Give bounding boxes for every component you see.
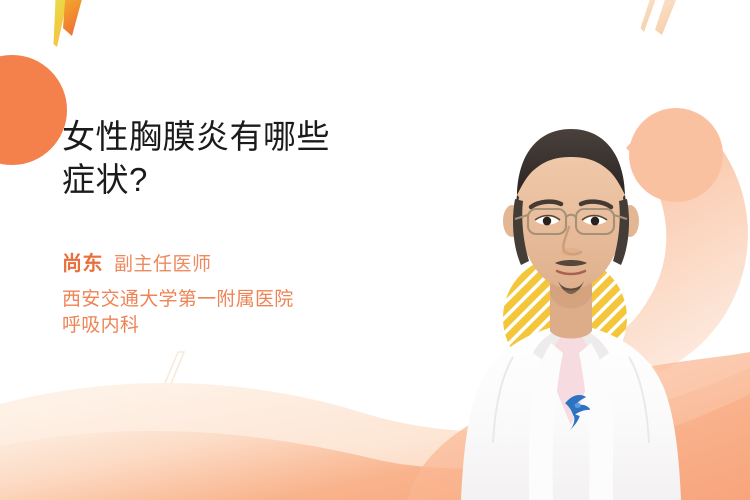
title-line-2: 症状? xyxy=(62,158,422,201)
doctor-department: 呼吸内科 xyxy=(62,313,392,339)
doctor-rank: 副主任医师 xyxy=(114,249,212,276)
doctor-name: 尚东 xyxy=(62,247,103,276)
title-line-1: 女性胸膜炎有哪些 xyxy=(62,115,422,158)
video-cover-card: 女性胸膜炎有哪些 症状? 尚东 副主任医师 西安交通大学第一附属医院 呼吸内科 xyxy=(0,0,750,500)
doctor-name-row: 尚东 副主任医师 xyxy=(62,247,392,276)
doctor-info: 尚东 副主任医师 西安交通大学第一附属医院 呼吸内科 xyxy=(62,247,392,339)
text-content: 女性胸膜炎有哪些 症状? 尚东 副主任医师 西安交通大学第一附属医院 呼吸内科 xyxy=(0,0,750,500)
page-title: 女性胸膜炎有哪些 症状? xyxy=(62,115,422,201)
doctor-hospital: 西安交通大学第一附属医院 xyxy=(62,287,392,313)
